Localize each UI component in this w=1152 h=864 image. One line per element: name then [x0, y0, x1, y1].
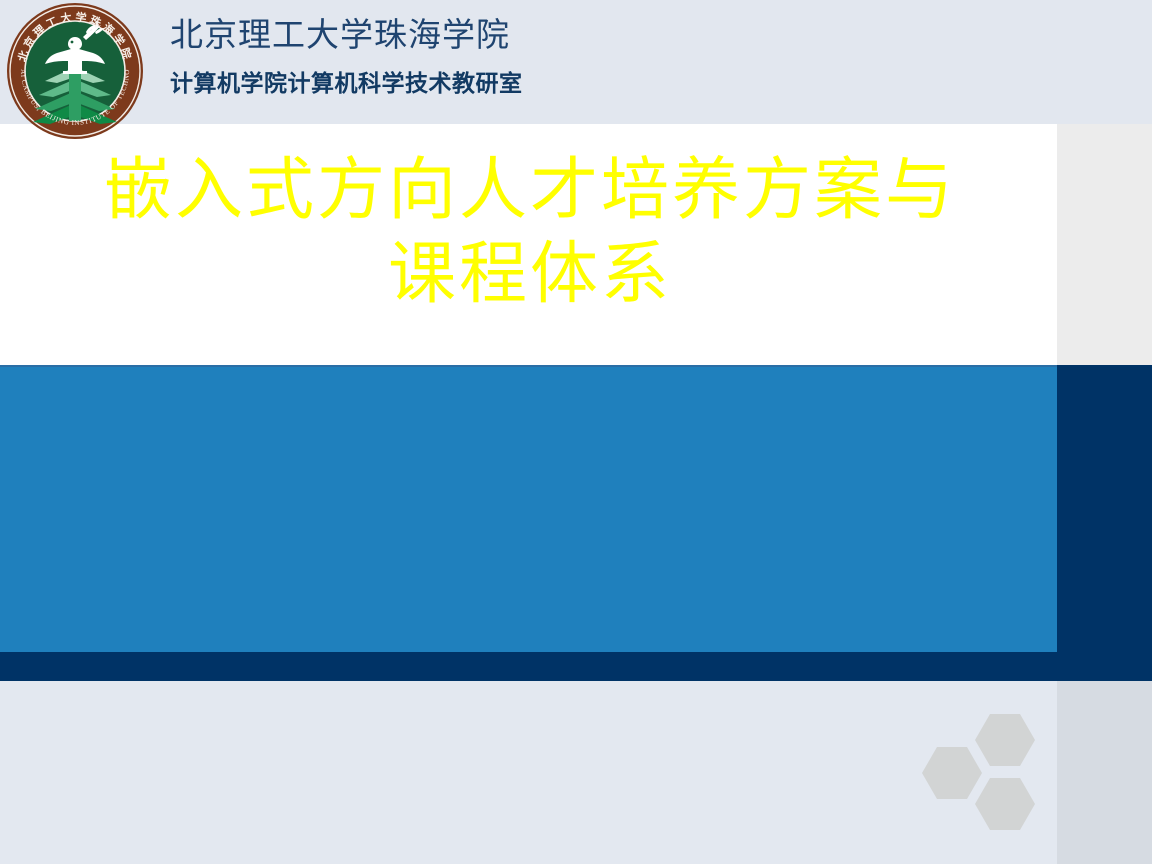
hexagon-decoration-icon — [905, 705, 1045, 835]
slide-canvas: 北京理工大学珠海学院 ZHUHAI CAMPUS, BEIJING INSTIT… — [0, 0, 1152, 864]
blue-content-band — [0, 367, 1057, 652]
organization-name: 北京理工大学珠海学院 — [170, 14, 870, 58]
blue-band-right-block — [1057, 365, 1152, 652]
slide-title-line-1: 嵌入式方向人才培养方案与 — [60, 148, 1000, 232]
department-name: 计算机学院计算机科学技术教研室 — [170, 66, 870, 100]
header-text-block: 北京理工大学珠海学院 计算机学院计算机科学技术教研室 — [170, 14, 870, 100]
university-seal-icon: 北京理工大学珠海学院 ZHUHAI CAMPUS, BEIJING INSTIT… — [5, 1, 145, 141]
title-panel-right-filler — [1057, 124, 1152, 365]
hexagon-bottom-right — [975, 778, 1035, 830]
slide-title: 嵌入式方向人才培养方案与 课程体系 — [60, 148, 1000, 316]
navy-divider-bar — [0, 652, 1152, 681]
hexagon-left — [922, 747, 982, 799]
slide-title-line-2: 课程体系 — [60, 232, 1000, 316]
hexagon-top-right — [975, 714, 1035, 766]
